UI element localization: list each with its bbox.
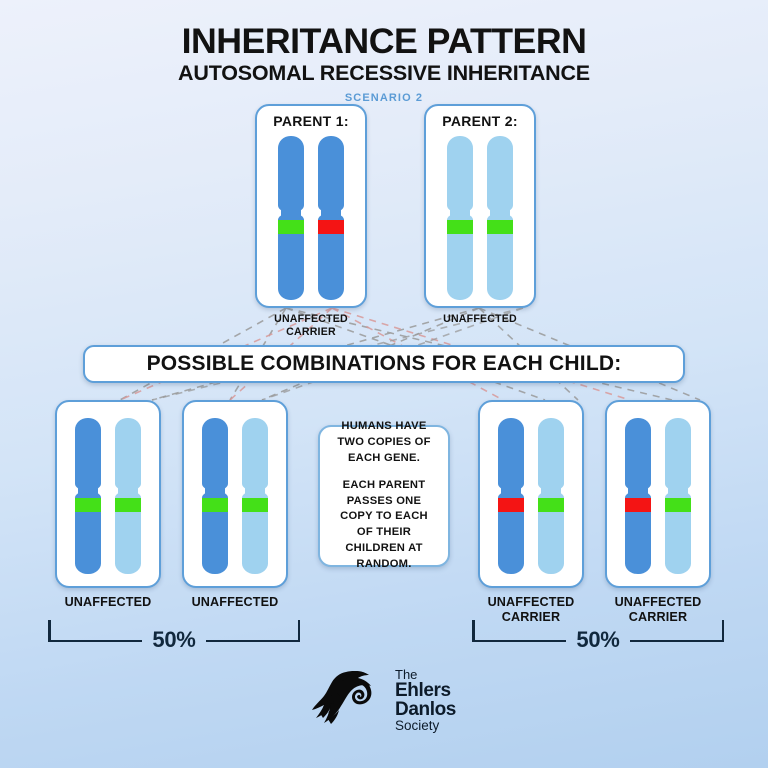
chromosome-dark-red bbox=[498, 418, 524, 574]
parent-1-outcome-line-2: CARRIER bbox=[245, 326, 377, 339]
inheritance-connector-lines bbox=[0, 0, 768, 768]
child-2-chromosomes bbox=[184, 418, 286, 574]
chromosome-upper-arm bbox=[242, 418, 268, 490]
parent-card-1-title: PARENT 1: bbox=[257, 113, 365, 129]
page-subtitle: AUTOSOMAL RECESSIVE INHERITANCE bbox=[0, 61, 768, 86]
parent-1-outcome-line-1: UNAFFECTED bbox=[245, 313, 377, 326]
possible-combinations-banner: POSSIBLE COMBINATIONS FOR EACH CHILD: bbox=[83, 345, 685, 383]
infographic-canvas: INHERITANCE PATTERN AUTOSOMAL RECESSIVE … bbox=[0, 0, 768, 768]
child-2-outcome-line-1: UNAFFECTED bbox=[165, 595, 305, 610]
parent-2-chromosomes bbox=[426, 136, 534, 300]
chromosome-upper-arm bbox=[318, 136, 344, 212]
child-card-4[interactable] bbox=[605, 400, 711, 588]
chromosome-dark-green bbox=[75, 418, 101, 574]
gene-band-normal bbox=[447, 220, 473, 234]
probability-bracket-left: 50% bbox=[48, 620, 300, 642]
gene-band-normal bbox=[75, 498, 101, 512]
chromosome-dark-red bbox=[318, 136, 344, 300]
gene-copies-note: HUMANS HAVE TWO COPIES OF EACH GENE. EAC… bbox=[318, 425, 450, 567]
logo-line-ehlers: Ehlers bbox=[395, 681, 456, 700]
chromosome-upper-arm bbox=[665, 418, 691, 490]
bracket-bar-left bbox=[472, 640, 566, 643]
chromosome-upper-arm bbox=[538, 418, 564, 490]
child-3-outcome-line-1: UNAFFECTED bbox=[461, 595, 601, 610]
parent-2-outcome: UNAFFECTED bbox=[414, 313, 546, 326]
logo-line-society: Society bbox=[395, 719, 456, 733]
chromosome-upper-arm bbox=[278, 136, 304, 212]
child-1-chromosomes bbox=[57, 418, 159, 574]
chromosome-light-green bbox=[242, 418, 268, 574]
chromosome-light-green bbox=[447, 136, 473, 300]
probability-left-value: 50% bbox=[145, 627, 202, 653]
gene-band-normal bbox=[278, 220, 304, 234]
chromosome-dark-green bbox=[202, 418, 228, 574]
probability-bracket-right: 50% bbox=[472, 620, 724, 642]
child-2-outcome: UNAFFECTED bbox=[165, 595, 305, 610]
chromosome-light-green bbox=[487, 136, 513, 300]
child-1-outcome: UNAFFECTED bbox=[38, 595, 178, 610]
gene-band-mutated bbox=[318, 220, 344, 234]
child-card-3[interactable] bbox=[478, 400, 584, 588]
banner-label: POSSIBLE COMBINATIONS FOR EACH CHILD: bbox=[147, 352, 622, 376]
bracket-bar-left bbox=[48, 640, 142, 643]
parent-1-outcome: UNAFFECTED CARRIER bbox=[245, 313, 377, 339]
chromosome-upper-arm bbox=[625, 418, 651, 490]
gene-band-normal bbox=[115, 498, 141, 512]
logo-line-danlos: Danlos bbox=[395, 700, 456, 719]
bracket-bar-right bbox=[206, 640, 300, 643]
chromosome-upper-arm bbox=[487, 136, 513, 212]
page-title: INHERITANCE PATTERN bbox=[0, 24, 768, 59]
probability-right-value: 50% bbox=[569, 627, 626, 653]
chromosome-upper-arm bbox=[498, 418, 524, 490]
child-3-chromosomes bbox=[480, 418, 582, 574]
parent-1-chromosomes bbox=[257, 136, 365, 300]
gene-band-normal bbox=[202, 498, 228, 512]
chromosome-dark-red bbox=[625, 418, 651, 574]
gene-band-mutated bbox=[625, 498, 651, 512]
chromosome-upper-arm bbox=[75, 418, 101, 490]
child-4-chromosomes bbox=[607, 418, 709, 574]
gene-band-normal bbox=[487, 220, 513, 234]
chromosome-upper-arm bbox=[447, 136, 473, 212]
note-paragraph-1: HUMANS HAVE TWO COPIES OF EACH GENE. bbox=[332, 419, 436, 467]
parent-2-outcome-line-1: UNAFFECTED bbox=[414, 313, 546, 326]
scenario-label: SCENARIO 2 bbox=[0, 92, 768, 104]
ehlers-danlos-society-logo: The Ehlers Danlos Society bbox=[310, 668, 456, 733]
child-card-2[interactable] bbox=[182, 400, 288, 588]
chromosome-light-green bbox=[538, 418, 564, 574]
parent-card-2[interactable]: PARENT 2: bbox=[424, 104, 536, 308]
gene-band-normal bbox=[665, 498, 691, 512]
note-paragraph-2: EACH PARENT PASSES ONE COPY TO EACH OF T… bbox=[332, 478, 436, 573]
parent-card-1[interactable]: PARENT 1: bbox=[255, 104, 367, 308]
gene-band-mutated bbox=[498, 498, 524, 512]
parent-card-2-title: PARENT 2: bbox=[426, 113, 534, 129]
chromosome-light-green bbox=[665, 418, 691, 574]
child-card-1[interactable] bbox=[55, 400, 161, 588]
bracket-bar-right bbox=[630, 640, 724, 643]
gene-band-normal bbox=[242, 498, 268, 512]
child-1-outcome-line-1: UNAFFECTED bbox=[38, 595, 178, 610]
child-4-outcome-line-1: UNAFFECTED bbox=[588, 595, 728, 610]
chromosome-upper-arm bbox=[202, 418, 228, 490]
chromosome-upper-arm bbox=[115, 418, 141, 490]
logo-wordmark: The Ehlers Danlos Society bbox=[395, 668, 456, 733]
zebra-head-icon bbox=[310, 669, 386, 731]
chromosome-light-green bbox=[115, 418, 141, 574]
chromosome-dark-green bbox=[278, 136, 304, 300]
page-header: INHERITANCE PATTERN AUTOSOMAL RECESSIVE … bbox=[0, 24, 768, 104]
gene-band-normal bbox=[538, 498, 564, 512]
